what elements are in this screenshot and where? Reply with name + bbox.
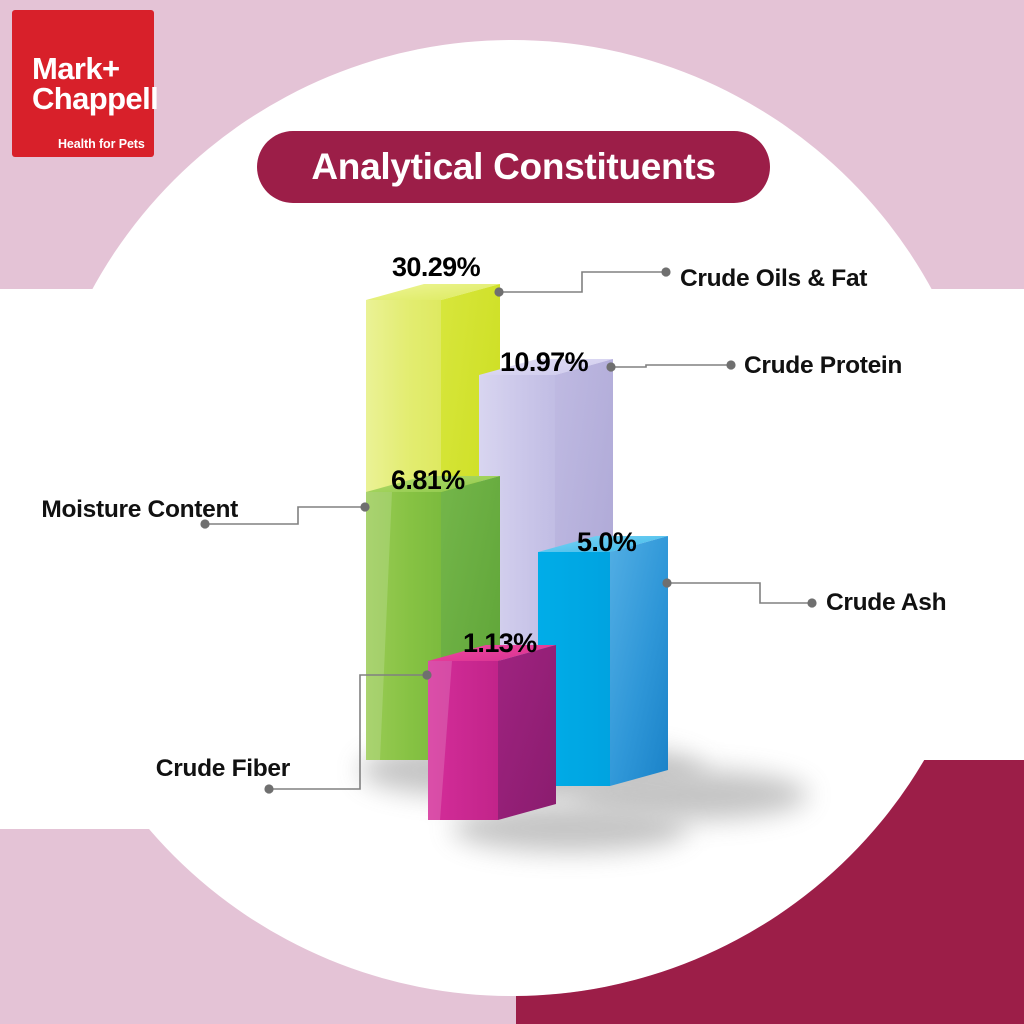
corner-maroon-shape [516,760,1024,1024]
value-label-moisture-content: 6.81% [391,465,465,496]
brand-logo[interactable]: Mark+ Chappell Health for Pets [12,10,154,157]
page-title: Analytical Constituents [311,146,715,188]
logo-tagline: Health for Pets [58,137,154,151]
callout-label-crude-oils-fat[interactable]: Crude Oils & Fat [680,265,867,293]
title-banner: Analytical Constituents [257,131,770,203]
value-label-crude-ash: 5.0% [577,527,636,558]
value-label-crude-oils-fat: 30.29% [392,252,480,283]
logo-line-2: Chappell [32,84,154,114]
callout-label-crude-fiber[interactable]: Crude Fiber [156,755,290,783]
value-label-crude-protein: 10.97% [500,347,588,378]
value-label-crude-fiber: 1.13% [463,628,537,659]
logo-line-1: Mark+ [32,54,154,84]
infographic-canvas: Mark+ Chappell Health for Pets Analytica… [0,0,1024,1024]
callout-label-crude-ash[interactable]: Crude Ash [826,589,946,617]
callout-label-crude-protein[interactable]: Crude Protein [744,352,902,380]
callout-label-moisture-content[interactable]: Moisture Content [41,496,238,524]
